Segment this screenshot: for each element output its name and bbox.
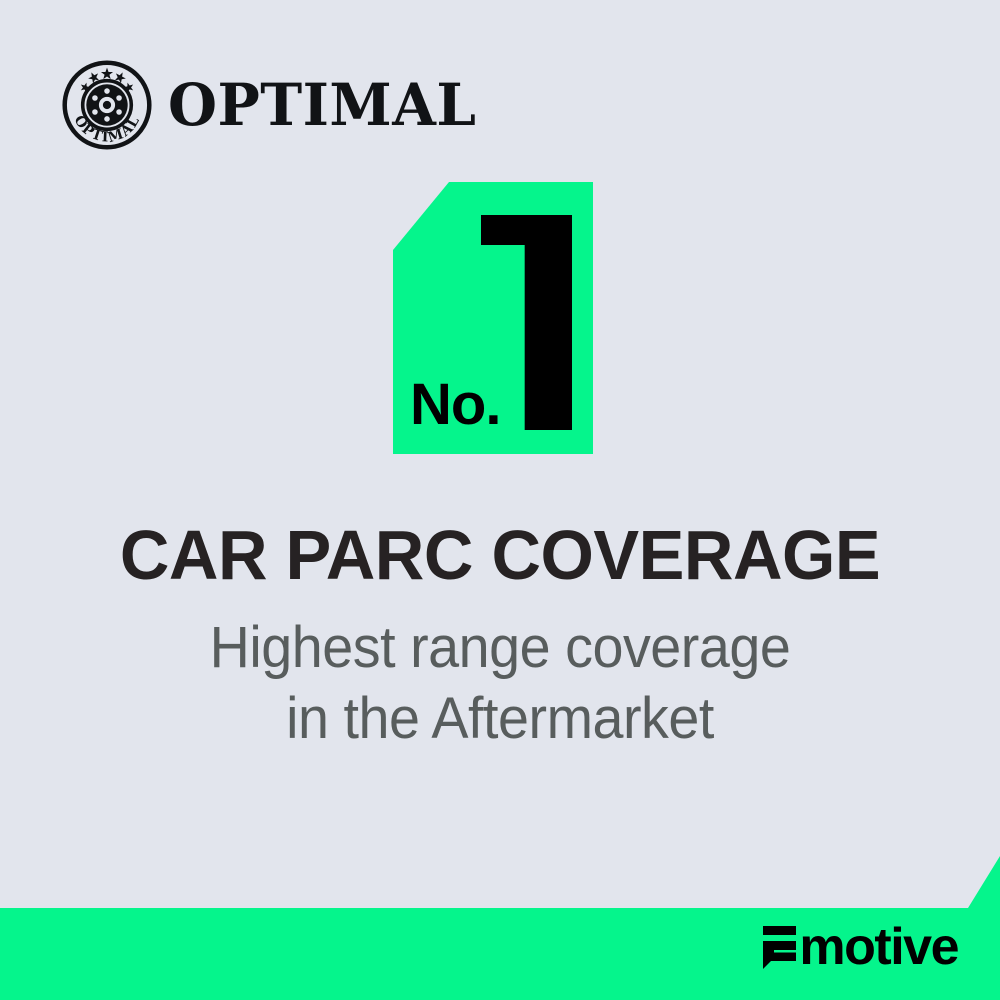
footer-bar: motive — [0, 856, 1000, 1000]
rank-badge-prefix-label: No. — [410, 376, 500, 434]
page-subtitle: Highest range coverage in the Aftermarke… — [20, 613, 980, 755]
emotive-e-logo-icon — [763, 926, 799, 970]
rank-badge: No. — [393, 182, 593, 454]
page-title: CAR PARC COVERAGE — [10, 520, 990, 591]
poster-canvas: OPTIMAL OPTIMAL No. CAR PARC COVERAGE Hi… — [0, 0, 1000, 1000]
headline-block: CAR PARC COVERAGE Highest range coverage… — [0, 520, 1000, 755]
emotive-logo-text: motive — [799, 925, 958, 970]
brand-wordmark: OPTIMAL — [168, 76, 476, 134]
page-subtitle-line-2: in the Aftermarket — [20, 684, 980, 755]
optimal-wheel-emblem-icon: OPTIMAL — [62, 60, 152, 150]
emotive-logo: motive — [763, 924, 958, 970]
brand-header: OPTIMAL OPTIMAL — [62, 60, 486, 150]
page-subtitle-line-1: Highest range coverage — [20, 613, 980, 684]
